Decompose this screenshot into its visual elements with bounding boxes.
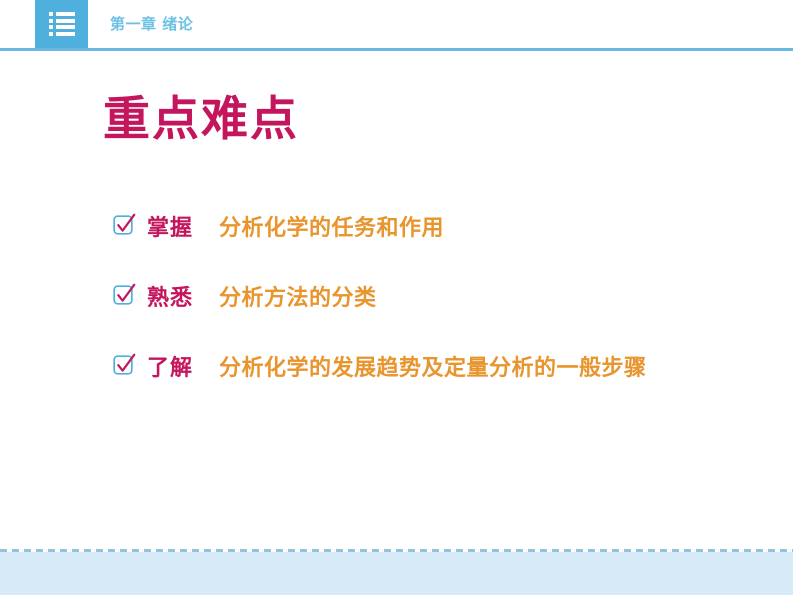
list-icon-bar xyxy=(56,19,75,23)
list-item-level: 了解 xyxy=(147,350,193,382)
list-icon-bullet xyxy=(49,32,53,36)
checkbox-checked-icon xyxy=(112,215,134,237)
slide-header: 第一章 绪论 xyxy=(0,0,793,50)
footer-band xyxy=(0,552,793,595)
checkbox-checked-icon xyxy=(112,355,134,377)
list-item-level: 掌握 xyxy=(147,210,193,242)
objectives-list: 掌握 分析化学的任务和作用 熟悉 分析方法的分类 xyxy=(112,191,762,401)
list-item-label: 分析方法的分类 xyxy=(219,280,377,312)
list-icon-row xyxy=(49,12,75,16)
list-item-label: 分析化学的任务和作用 xyxy=(219,210,444,242)
chapter-title: 第一章 绪论 xyxy=(110,0,193,48)
list-icon-row xyxy=(49,32,75,36)
slide-canvas: 第一章 绪论 重点难点 掌握 分析化学的任务和作用 xyxy=(0,0,793,595)
slide-body: 重点难点 掌握 分析化学的任务和作用 xyxy=(0,51,793,551)
list-icon-bar xyxy=(56,32,75,36)
list-icon-bullet xyxy=(49,19,53,23)
list-icon-row xyxy=(49,19,75,23)
list-item: 了解 分析化学的发展趋势及定量分析的一般步骤 xyxy=(112,331,762,401)
list-menu-icon-glyph xyxy=(49,12,75,36)
list-item-level: 熟悉 xyxy=(147,280,193,312)
list-item: 熟悉 分析方法的分类 xyxy=(112,261,762,331)
page-title: 重点难点 xyxy=(103,96,299,143)
list-item: 掌握 分析化学的任务和作用 xyxy=(112,191,762,261)
list-menu-icon xyxy=(35,0,88,48)
list-icon-bar xyxy=(56,12,75,16)
list-icon-bar xyxy=(56,25,75,29)
list-icon-bullet xyxy=(49,25,53,29)
checkbox-checked-icon xyxy=(112,285,134,307)
list-icon-bullet xyxy=(49,12,53,16)
list-icon-row xyxy=(49,25,75,29)
list-item-label: 分析化学的发展趋势及定量分析的一般步骤 xyxy=(219,350,647,382)
